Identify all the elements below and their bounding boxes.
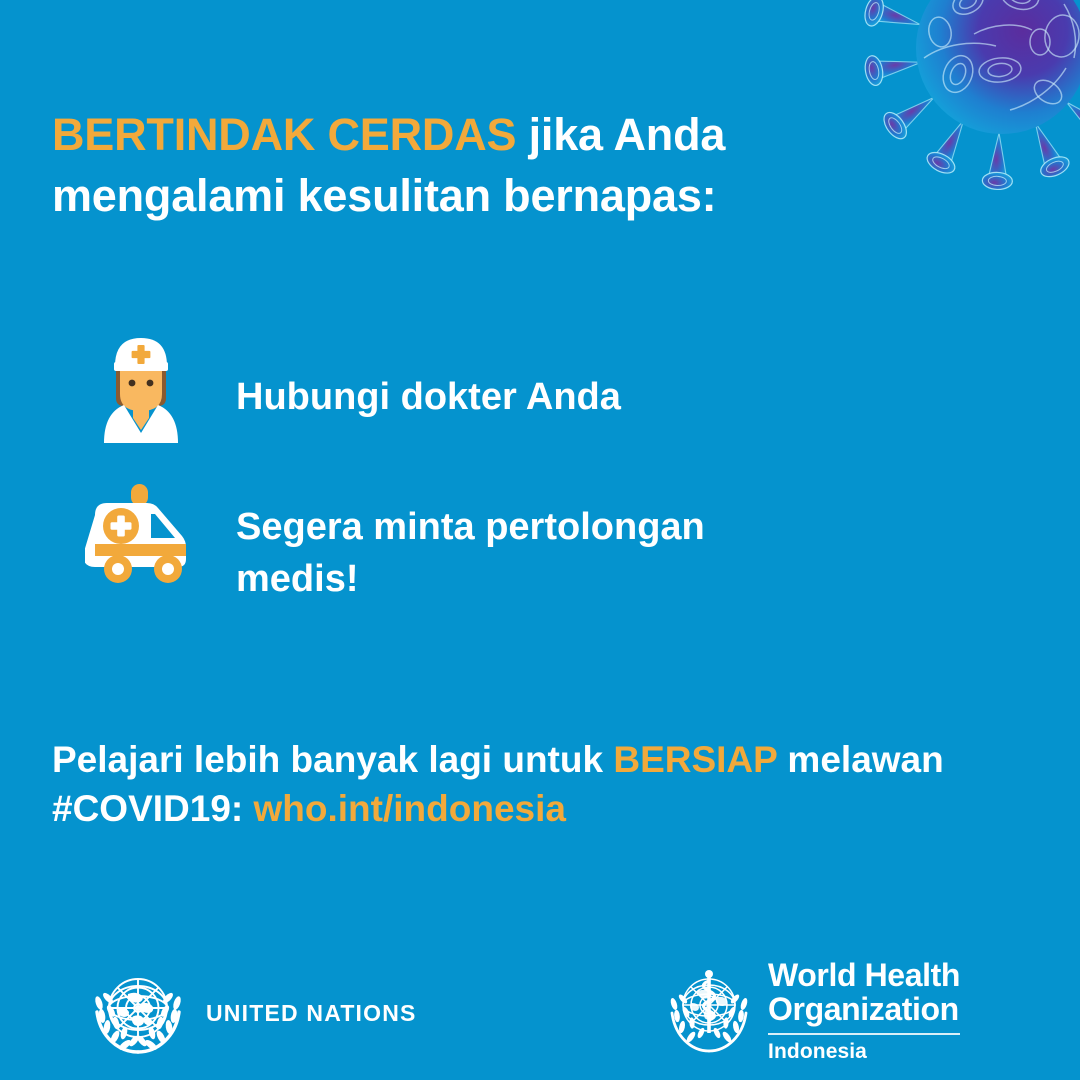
footer-logos: UNITED NATIONS [0, 940, 1080, 1080]
un-emblem-icon [88, 970, 188, 1056]
advice-item-label: Segera minta pertolongan medis! [236, 482, 796, 605]
advice-list: Hubungi dokter Anda [0, 332, 1080, 632]
learn-more-accent: BERSIAP [613, 739, 777, 780]
who-wordmark-line2: Organization [768, 993, 960, 1026]
un-wordmark: UNITED NATIONS [206, 1000, 417, 1027]
who-emblem-icon [662, 963, 756, 1057]
who-wordmark-line1: World Health [768, 959, 960, 992]
advice-item-label: Hubungi dokter Anda [236, 332, 796, 424]
learn-more-text: Pelajari lebih banyak lagi untuk BERSIAP… [52, 736, 992, 834]
who-country-label: Indonesia [768, 1040, 960, 1064]
who-wordmark: World Health Organization Indonesia [768, 959, 960, 1064]
headline-accent: BERTINDAK CERDAS [52, 109, 516, 160]
advice-item-seek-help: Segera minta pertolongan medis! [0, 482, 1080, 632]
ambulance-icon [78, 482, 204, 586]
page-headline: BERTINDAK CERDAS jika Anda mengalami kes… [52, 104, 842, 226]
advice-item-call-doctor: Hubungi dokter Anda [0, 332, 1080, 482]
who-divider [768, 1033, 960, 1035]
learn-more-before: Pelajari lebih banyak lagi untuk [52, 739, 613, 780]
coronavirus-illustration [850, 0, 1080, 228]
nurse-icon [78, 332, 204, 444]
united-nations-logo: UNITED NATIONS [88, 970, 417, 1056]
who-indonesia-link[interactable]: who.int/indonesia [254, 788, 566, 829]
who-logo: World Health Organization Indonesia [662, 959, 960, 1064]
poster-canvas: BERTINDAK CERDAS jika Anda mengalami kes… [0, 0, 1080, 1080]
